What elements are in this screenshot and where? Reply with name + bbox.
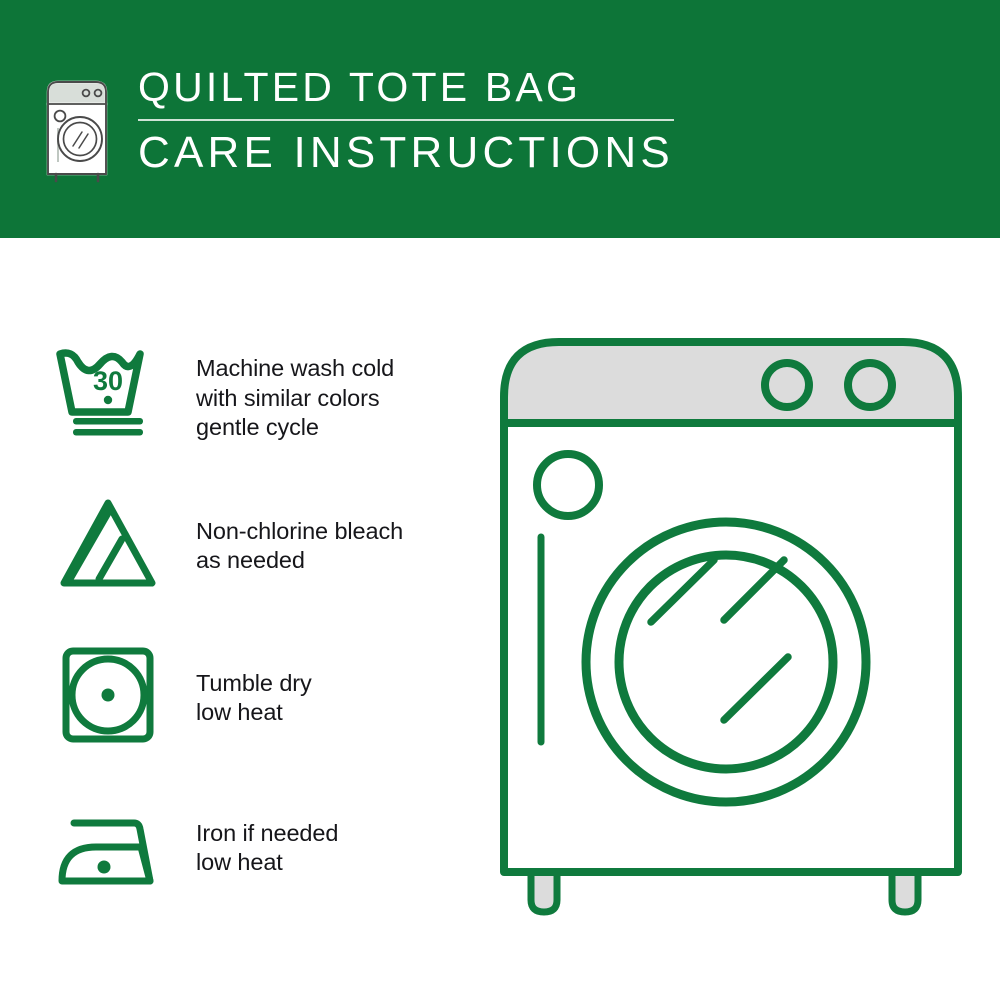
washing-machine-icon	[44, 74, 110, 184]
machine-leg-right	[892, 872, 918, 912]
care-text-line: low heat	[196, 698, 312, 728]
header-band: QUILTED TOTE BAG CARE INSTRUCTIONS	[0, 0, 1000, 238]
tumble-dry-icon	[52, 643, 164, 747]
care-row-wash: 30 Machine wash cold with similar colors…	[52, 338, 472, 443]
care-text-line: low heat	[196, 848, 338, 878]
care-instructions-infographic: QUILTED TOTE BAG CARE INSTRUCTIONS 30	[0, 0, 1000, 1000]
wash-temperature-label: 30	[93, 366, 123, 396]
page-subtitle: CARE INSTRUCTIONS	[138, 126, 674, 180]
header-content: QUILTED TOTE BAG CARE INSTRUCTIONS	[44, 62, 674, 184]
care-text-line: Iron if needed	[196, 819, 338, 849]
care-text-line: Machine wash cold	[196, 354, 394, 384]
machine-leg-left	[531, 872, 557, 912]
iron-icon	[52, 795, 164, 899]
care-text-line: as needed	[196, 546, 403, 576]
bleach-triangle-icon	[52, 491, 164, 595]
care-row-bleach: Non-chlorine bleach as needed	[52, 491, 472, 595]
title-divider	[138, 119, 674, 121]
washing-machine-illustration	[496, 332, 966, 932]
care-text-tumble-dry: Tumble dry low heat	[196, 643, 312, 728]
header-title-block: QUILTED TOTE BAG CARE INSTRUCTIONS	[138, 62, 674, 180]
care-text-line: Non-chlorine bleach	[196, 517, 403, 547]
care-text-wash: Machine wash cold with similar colors ge…	[196, 338, 394, 443]
care-row-iron: Iron if needed low heat	[52, 795, 472, 899]
wash-basin-icon: 30	[52, 338, 164, 442]
page-title: QUILTED TOTE BAG	[138, 62, 674, 112]
care-text-line: with similar colors	[196, 384, 394, 414]
care-instruction-list: 30 Machine wash cold with similar colors…	[52, 338, 472, 899]
care-text-line: gentle cycle	[196, 413, 394, 443]
care-row-tumble-dry: Tumble dry low heat	[52, 643, 472, 747]
care-text-line: Tumble dry	[196, 669, 312, 699]
care-text-iron: Iron if needed low heat	[196, 795, 338, 878]
care-text-bleach: Non-chlorine bleach as needed	[196, 491, 403, 576]
